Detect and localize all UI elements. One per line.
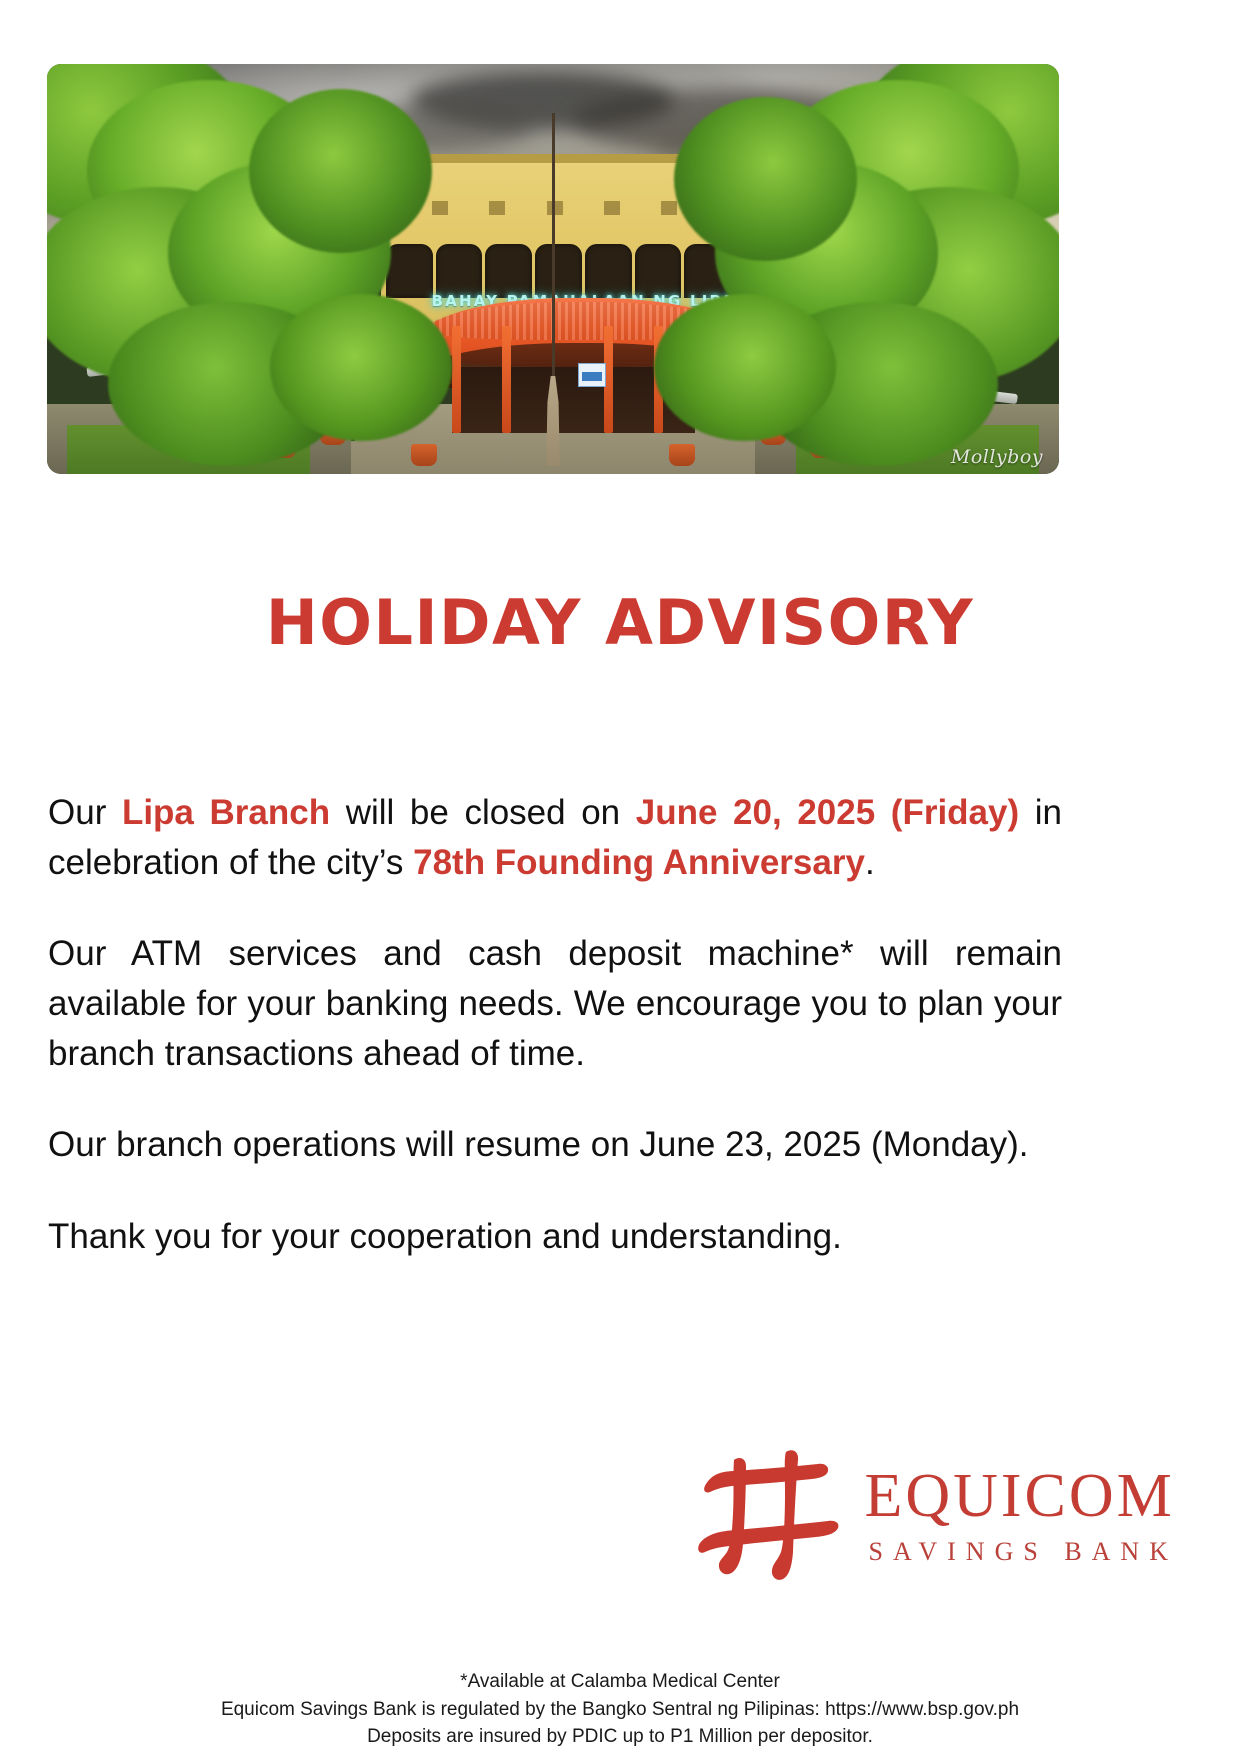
tree-foliage bbox=[270, 294, 452, 442]
tree-foliage bbox=[654, 294, 836, 442]
p1-highlight-branch: Lipa Branch bbox=[122, 793, 330, 832]
paragraph-closure-notice: Our Lipa Branch will be closed on June 2… bbox=[48, 788, 1062, 887]
footer-line-availability: *Available at Calamba Medical Center bbox=[0, 1668, 1240, 1696]
footer-line-pdic: Deposits are insured by PDIC up to P1 Mi… bbox=[0, 1723, 1240, 1751]
canopy-pillar bbox=[452, 326, 461, 433]
equicom-logo: EQUICOM SAVINGS BANK bbox=[692, 1440, 1178, 1590]
equicom-brush-mark-icon bbox=[692, 1440, 842, 1590]
footer-line-regulator: Equicom Savings Bank is regulated by the… bbox=[0, 1696, 1240, 1724]
equicom-wordmark: EQUICOM SAVINGS BANK bbox=[864, 1465, 1178, 1565]
planter-pot bbox=[669, 444, 695, 466]
p1-highlight-anniversary: 78th Founding Anniversary bbox=[413, 843, 865, 882]
page-title: HOLIDAY ADVISORY bbox=[0, 590, 1240, 655]
hero-photo-lipa-city-hall: BAHAY PAMAHALAAN NG LIPA bbox=[47, 64, 1059, 474]
planter-pot bbox=[411, 444, 437, 466]
canopy-pillar bbox=[502, 326, 511, 433]
photo-composition: BAHAY PAMAHALAAN NG LIPA bbox=[47, 64, 1059, 474]
footer-disclaimer: *Available at Calamba Medical Center Equ… bbox=[0, 1668, 1240, 1751]
entrance-notice-board bbox=[578, 363, 606, 387]
paragraph-resume-operations: Our branch operations will resume on Jun… bbox=[48, 1120, 1062, 1170]
flagpole bbox=[552, 113, 555, 400]
logo-brand-text: EQUICOM bbox=[864, 1465, 1178, 1527]
logo-tagline-text: SAVINGS BANK bbox=[864, 1539, 1178, 1565]
paragraph-thank-you: Thank you for your cooperation and under… bbox=[48, 1212, 1062, 1262]
paragraph-atm-availability: Our ATM services and cash deposit machin… bbox=[48, 929, 1062, 1078]
tree-foliage bbox=[674, 97, 856, 261]
p1-segment-2: will be closed on bbox=[330, 793, 636, 832]
advisory-page: BAHAY PAMAHALAAN NG LIPA bbox=[0, 0, 1240, 1748]
p1-highlight-date: June 20, 2025 (Friday) bbox=[636, 793, 1019, 832]
tree-foliage bbox=[249, 89, 431, 253]
photo-watermark: Mollyboy bbox=[951, 446, 1043, 468]
advisory-body: Our Lipa Branch will be closed on June 2… bbox=[48, 788, 1062, 1262]
p1-segment-1: Our bbox=[48, 793, 122, 832]
p1-segment-4: . bbox=[865, 843, 875, 882]
